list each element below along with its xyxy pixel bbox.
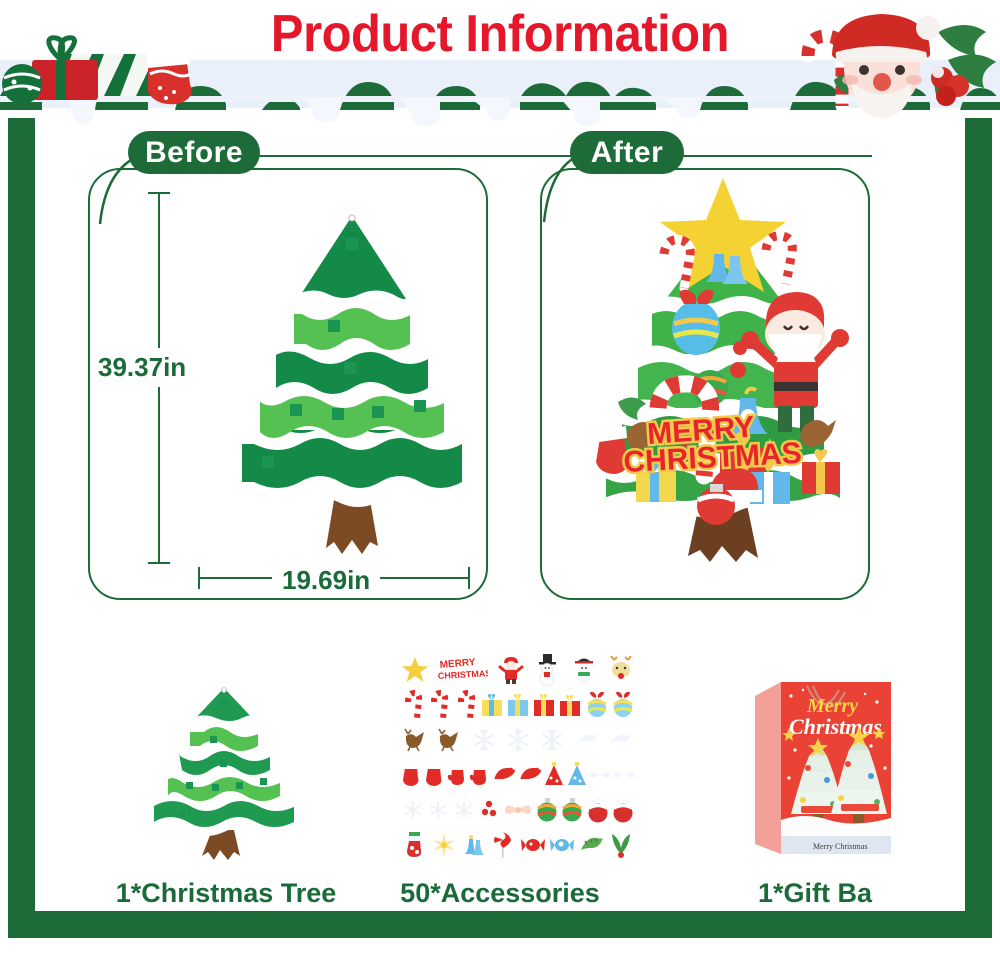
snowflake-sm-icon-3 <box>451 794 477 826</box>
bow-white-icon-2 <box>612 759 636 791</box>
height-dimension-label: 39.37in <box>92 348 192 387</box>
stocking-icon <box>146 50 191 104</box>
tree-blue-icon <box>565 759 588 791</box>
frame-left-bar <box>8 118 35 938</box>
header-left-ornaments <box>0 20 220 115</box>
reindeer-icon-2 <box>434 724 464 756</box>
tree-after-illustration: MERRY MERRY CHRISTMAS CHRISTMAS <box>588 176 858 576</box>
candy-cane-icon-2 <box>426 689 452 721</box>
stocking-icon-1 <box>400 759 423 791</box>
reindeer-head-icon <box>606 654 636 686</box>
snowflake-icon-2 <box>503 724 533 756</box>
item-label-gift-bag: 1*Gift Ba <box>650 878 980 909</box>
height-dimension-cap-bottom <box>148 562 170 564</box>
candy-cane-icon-3 <box>452 689 478 721</box>
sparkle-icon <box>430 829 460 861</box>
merry-christmas-text-icon: MERRY CHRISTMAS <box>437 654 489 686</box>
santa-hat-icon-1 <box>491 759 517 791</box>
ornament-green-icon-2 <box>560 794 586 826</box>
berries-icon <box>477 794 503 826</box>
candy-red-icon <box>518 829 548 861</box>
mitten-icon-1 <box>445 759 468 791</box>
holly-green-icon <box>577 829 607 861</box>
star-icon <box>400 654 430 686</box>
candy-cane-left <box>664 240 690 288</box>
width-dimension-cap-left <box>198 567 200 589</box>
frame-bottom-bar <box>8 911 992 938</box>
bow-peach-icon <box>502 794 534 826</box>
candy-cane-icon-1 <box>400 689 426 721</box>
reindeer-icon-1 <box>400 724 430 756</box>
accessories-row-3 <box>400 722 636 757</box>
small-christmas-tree-icon <box>146 668 302 868</box>
accessories-row-6 <box>400 827 636 862</box>
candy-blue-icon <box>548 829 578 861</box>
ornament-green-icon-1 <box>534 794 560 826</box>
accessories-row-4 <box>400 757 636 792</box>
width-dimension-cap-right <box>468 567 470 589</box>
snowflake-white-icon-2 <box>606 724 636 756</box>
ornament-ball-icon <box>2 64 42 104</box>
gift-cyan-icon <box>505 689 531 721</box>
item-label-accessories: 50*Accessories <box>362 878 638 909</box>
accessories-row-5 <box>400 792 636 827</box>
bag-footer-text: Merry Christmas <box>813 842 867 851</box>
mitten-icon-2 <box>468 759 491 791</box>
stocking-icon-2 <box>423 759 446 791</box>
product-information-infographic: Product Information <box>0 0 1000 970</box>
bells-blue-icon <box>459 829 489 861</box>
header-right-ornaments <box>790 8 1000 123</box>
snowflake-white-icon-1 <box>572 724 602 756</box>
snowflake-sm-icon-1 <box>400 794 426 826</box>
item-label-tree: 1*Christmas Tree <box>48 878 404 909</box>
gift-box-icon <box>32 38 98 100</box>
accessories-row-1: MERRY CHRISTMAS <box>400 652 636 687</box>
snowflake-sm-icon-2 <box>426 794 452 826</box>
ornament-red-icon-2 <box>611 794 637 826</box>
tree-red-icon <box>543 759 566 791</box>
svg-text:CHRISTMAS: CHRISTMAS <box>438 668 488 681</box>
ornament-blue-icon-1 <box>584 689 610 721</box>
snowflake-icon-1 <box>469 724 499 756</box>
stocking-decor-icon <box>400 829 430 861</box>
accessories-grid: MERRY CHRISTMAS <box>400 652 636 864</box>
width-dimension-label: 19.69in <box>272 563 380 598</box>
accessories-row-2 <box>400 687 636 722</box>
header: Product Information <box>0 0 1000 125</box>
candy-cane-right <box>766 236 792 284</box>
snowman-blackhat-icon <box>569 654 599 686</box>
tag-after: After <box>570 131 684 174</box>
gift-red-icon <box>531 689 557 721</box>
ornament-blue-icon-2 <box>610 689 636 721</box>
santa-hat-icon-2 <box>517 759 543 791</box>
lollipop-icon <box>489 829 519 861</box>
snowflake-icon-3 <box>537 724 567 756</box>
gift-bag-illustration: Merry Christmas <box>745 668 905 864</box>
tree-before-illustration <box>232 182 472 572</box>
snowman-tophat-icon <box>532 654 562 686</box>
santa-icon <box>496 654 526 686</box>
gift-red-yellow-icon <box>557 689 583 721</box>
frame-right-bar <box>965 118 992 938</box>
bow-white-icon-1 <box>588 759 612 791</box>
ornament-red-icon-1 <box>585 794 611 826</box>
after-pill-rule <box>676 150 876 162</box>
tag-before: Before <box>128 131 260 174</box>
holly-red-icon <box>607 829 637 861</box>
gift-blue-icon <box>479 689 505 721</box>
